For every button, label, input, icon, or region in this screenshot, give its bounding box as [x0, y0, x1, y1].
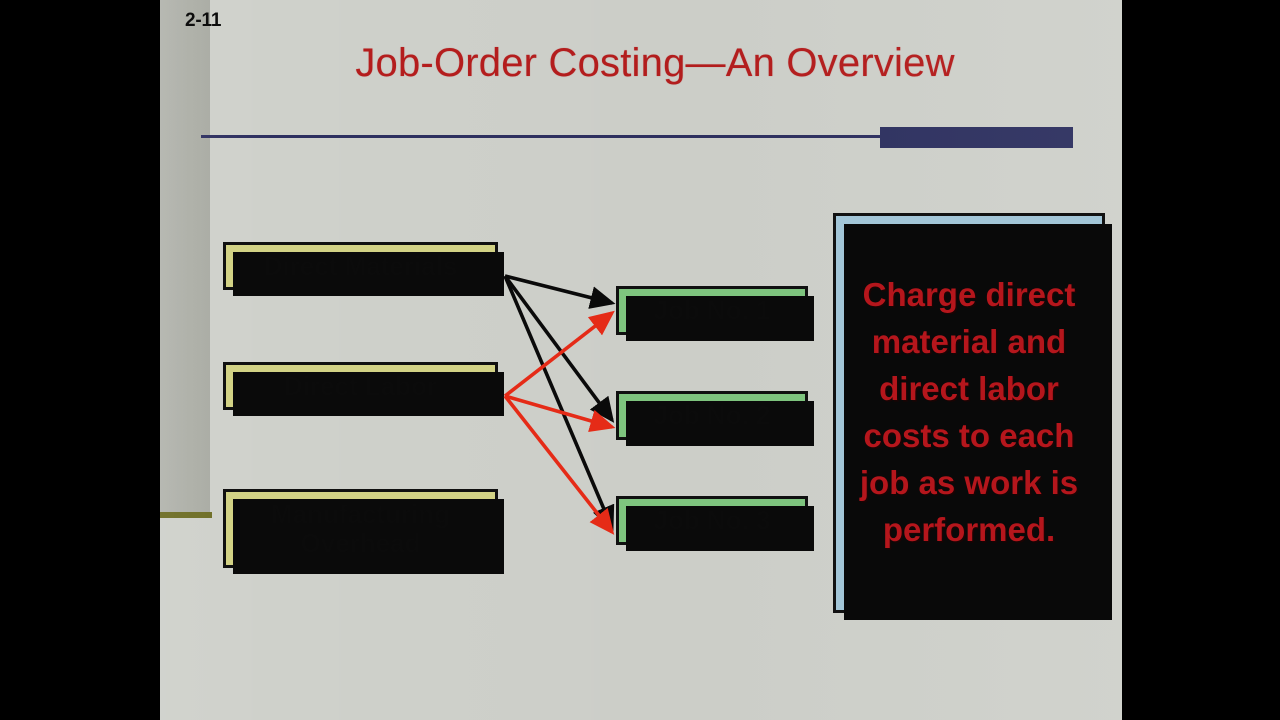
arrow-direct-materials-to-job-2: [505, 276, 612, 420]
cost-box-direct-labor: Direct Labor: [223, 362, 498, 410]
title-accent-block: [880, 127, 1073, 148]
title-underline-rule: [201, 135, 881, 138]
arrow-direct-labor-to-job-3: [505, 396, 612, 532]
callout-text: Charge direct material and direct labor …: [836, 272, 1102, 553]
job-box-2-label: Job No. 2: [653, 401, 770, 429]
presentation-slide: 2-11 Job-Order Costing—An Overview Direc…: [160, 0, 1122, 720]
letterbox-left: [0, 0, 160, 720]
cost-box-direct-materials: Direct Materials: [223, 242, 498, 290]
slide-left-accent-band: [160, 0, 210, 514]
job-box-2: Job No. 2: [616, 391, 808, 440]
arrow-direct-labor-to-job-1: [505, 313, 612, 396]
callout-box: Charge direct material and direct labor …: [833, 213, 1105, 613]
cost-box-direct-materials-label: Direct Materials: [264, 252, 458, 280]
cost-box-direct-labor-label: Direct Labor: [284, 372, 437, 400]
letterbox-right: [1122, 0, 1280, 720]
arrow-direct-materials-to-job-1: [505, 276, 612, 303]
cost-box-manufacturing-overhead-label: Manufacturing Overhead: [226, 500, 495, 556]
cost-box-manufacturing-overhead: Manufacturing Overhead: [223, 489, 498, 568]
screen: 2-11 Job-Order Costing—An Overview Direc…: [0, 0, 1280, 720]
job-box-1: Job No. 1: [616, 286, 808, 335]
slide-left-accent-rule: [160, 512, 212, 518]
job-box-3-label: Job No. 3: [653, 506, 770, 534]
arrow-direct-materials-to-job-3: [505, 276, 612, 528]
job-box-3: Job No. 3: [616, 496, 808, 545]
slide-number: 2-11: [185, 10, 221, 32]
arrow-direct-labor-to-job-2: [505, 396, 612, 427]
job-box-1-label: Job No. 1: [653, 296, 770, 324]
page-title: Job-Order Costing—An Overview: [205, 41, 1105, 86]
